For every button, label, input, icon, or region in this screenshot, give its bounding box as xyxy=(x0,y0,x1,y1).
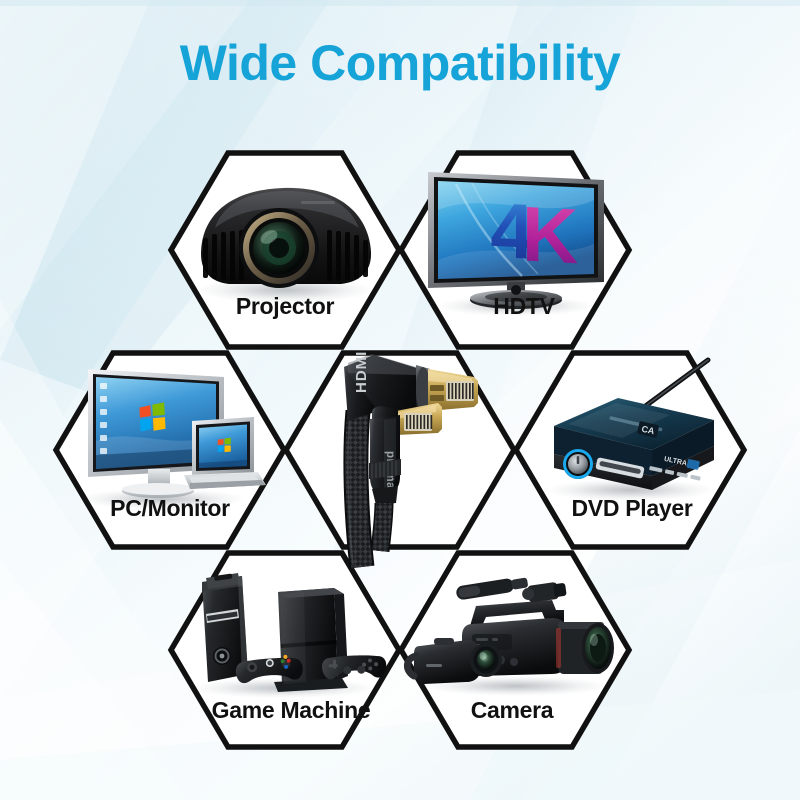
svg-text:HDMI: HDMI xyxy=(353,351,370,393)
laptop xyxy=(184,417,266,489)
hexagon-honeycomb: 4 K xyxy=(0,0,800,800)
label-projector: Projector xyxy=(236,293,334,320)
label-dvd-player: DVD Player xyxy=(571,495,692,522)
poster-canvas: Wide Compatibility xyxy=(0,0,800,800)
label-game-machine: Game Machine xyxy=(212,697,371,724)
label-hdtv: HDTV xyxy=(493,293,554,320)
label-camera: Camera xyxy=(471,697,554,724)
hdtv-4k-text: 4 K xyxy=(490,186,578,281)
console-slim xyxy=(274,588,348,692)
power-knob[interactable] xyxy=(563,449,593,479)
hdmi-wordmark: HDMI xyxy=(353,351,370,393)
svg-text:K: K xyxy=(522,189,578,280)
label-pc-monitor: PC/Monitor xyxy=(110,495,230,522)
